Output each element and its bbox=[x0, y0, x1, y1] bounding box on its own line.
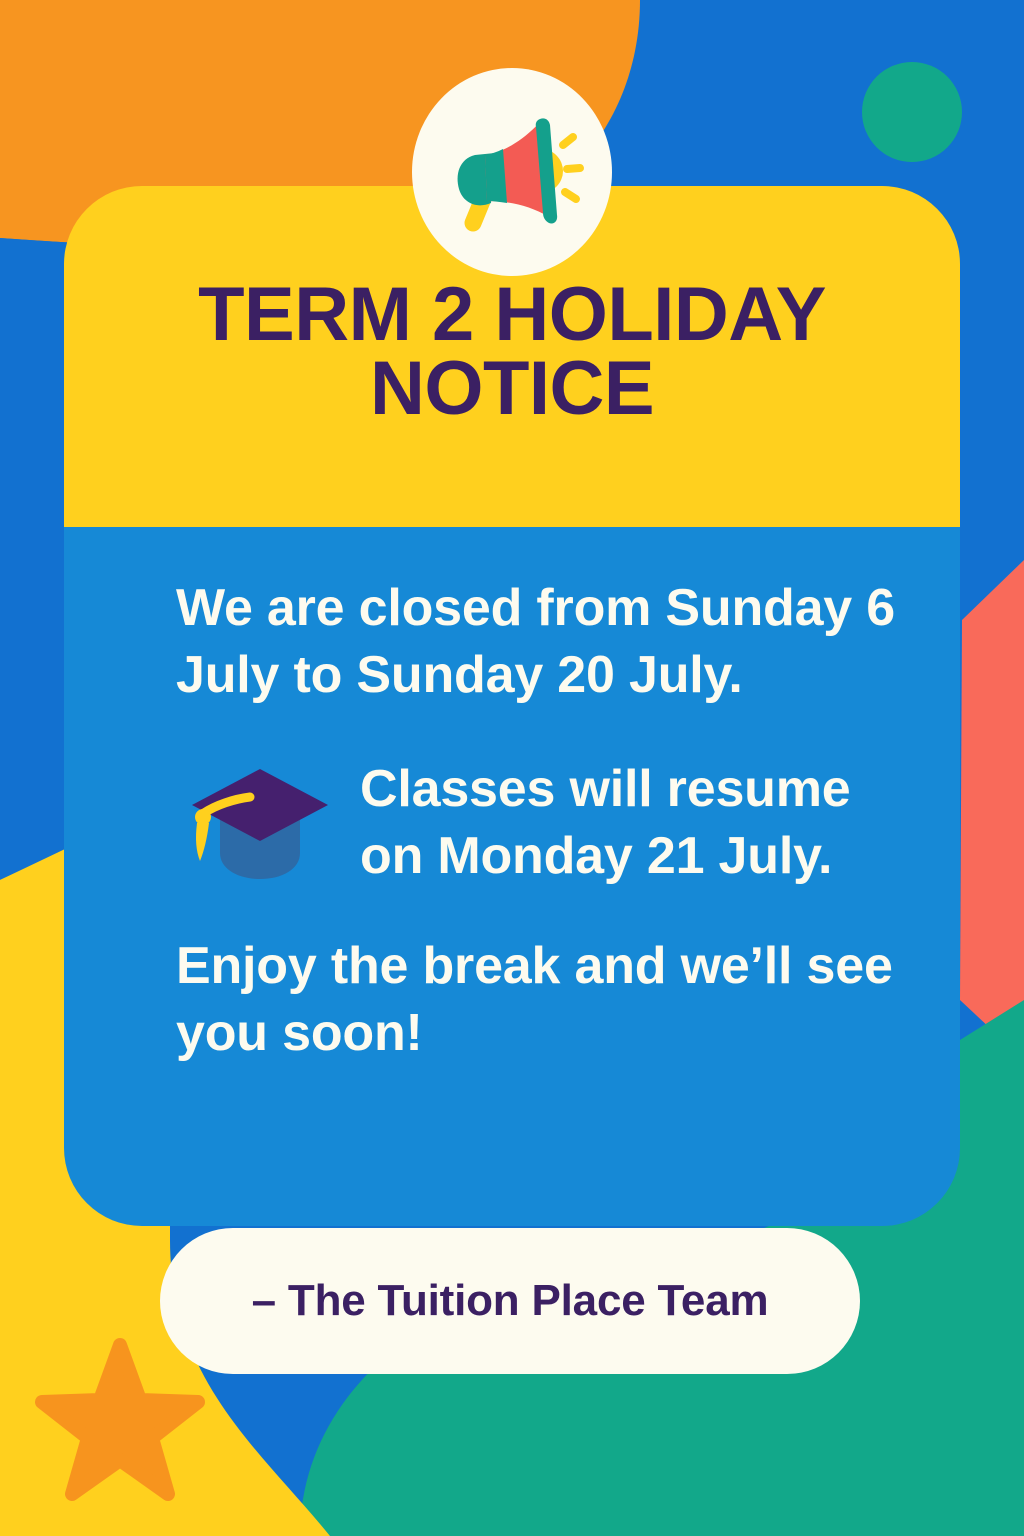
page-title: TERM 2 HOLIDAY NOTICE bbox=[104, 278, 920, 427]
megaphone-badge bbox=[412, 68, 612, 276]
green-circle-top-right bbox=[862, 62, 962, 162]
resume-row: Classes will resume on Monday 21 July. bbox=[176, 756, 900, 889]
megaphone-icon bbox=[437, 97, 587, 247]
card-body: We are closed from Sunday 6 July to Sund… bbox=[64, 527, 960, 1226]
signature-text: – The Tuition Place Team bbox=[252, 1276, 769, 1326]
signature-pill: – The Tuition Place Team bbox=[160, 1228, 860, 1374]
holiday-notice-poster: TERM 2 HOLIDAY NOTICE We are closed from… bbox=[0, 0, 1024, 1536]
notice-card: TERM 2 HOLIDAY NOTICE We are closed from… bbox=[64, 186, 960, 1226]
resume-date-text: Classes will resume on Monday 21 July. bbox=[360, 756, 900, 889]
closure-dates-text: We are closed from Sunday 6 July to Sund… bbox=[176, 575, 900, 708]
closing-message-text: Enjoy the break and we’ll see you soon! bbox=[176, 933, 900, 1066]
coral-shape-right bbox=[960, 560, 1024, 1060]
graduation-cap-icon bbox=[176, 757, 338, 889]
